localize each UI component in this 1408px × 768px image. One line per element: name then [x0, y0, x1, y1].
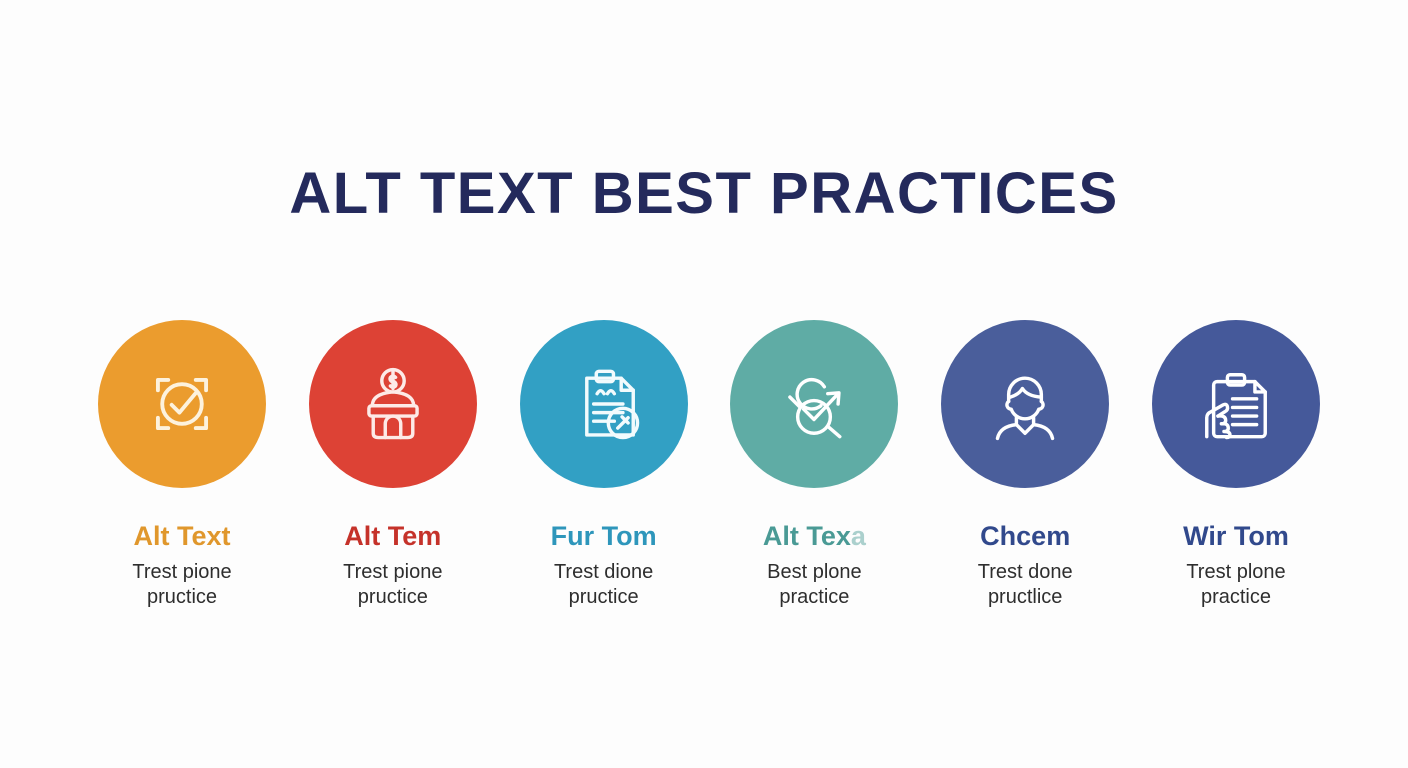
list-item[interactable]: Alt Text Trest pione pructice — [98, 320, 266, 611]
clipboard-badge-icon — [561, 361, 647, 447]
page-title: ALT TEXT BEST PRACTICES — [0, 160, 1408, 227]
item-description: Best plone practice — [767, 560, 862, 611]
icon-circle-6[interactable] — [1152, 320, 1320, 488]
icon-circle-5[interactable] — [941, 320, 1109, 488]
item-description: Trest pione pructice — [132, 560, 231, 611]
list-item[interactable]: Alt Texa Best plone practice — [730, 320, 898, 611]
icon-circle-1[interactable] — [98, 320, 266, 488]
person-avatar-icon — [982, 361, 1068, 447]
scan-check-icon — [139, 361, 225, 447]
bank-dollar-icon — [350, 361, 436, 447]
list-item[interactable]: Alt Tem Trest pione pructice — [309, 320, 477, 611]
item-label-tail: a — [851, 521, 866, 551]
list-item[interactable]: Chcem Trest done pructlice — [941, 320, 1109, 611]
item-label: Alt Tem — [344, 522, 441, 552]
item-label: Fur Tom — [551, 522, 657, 552]
item-description: Trest dione pructice — [554, 560, 653, 611]
icon-circle-4[interactable] — [730, 320, 898, 488]
icon-circle-2[interactable] — [309, 320, 477, 488]
list-item[interactable]: Wir Tom Trest plone practice — [1152, 320, 1320, 611]
infographic-canvas: ALT TEXT BEST PRACTICES Alt Text — [0, 0, 1408, 768]
item-row: Alt Text Trest pione pructice — [98, 320, 1320, 611]
item-label: Wir Tom — [1183, 522, 1289, 552]
icon-circle-3[interactable] — [520, 320, 688, 488]
item-description: Trest pione pructice — [343, 560, 442, 611]
item-description: Trest plone practice — [1186, 560, 1285, 611]
list-item[interactable]: Fur Tom Trest dione pructice — [520, 320, 688, 611]
hand-clipboard-icon — [1193, 361, 1279, 447]
growth-arrow-check-icon — [771, 361, 857, 447]
item-label: Alt Text — [133, 522, 230, 552]
item-label: Chcem — [980, 522, 1070, 552]
item-description: Trest done pructlice — [978, 560, 1073, 611]
item-label: Alt Texa — [763, 522, 866, 552]
